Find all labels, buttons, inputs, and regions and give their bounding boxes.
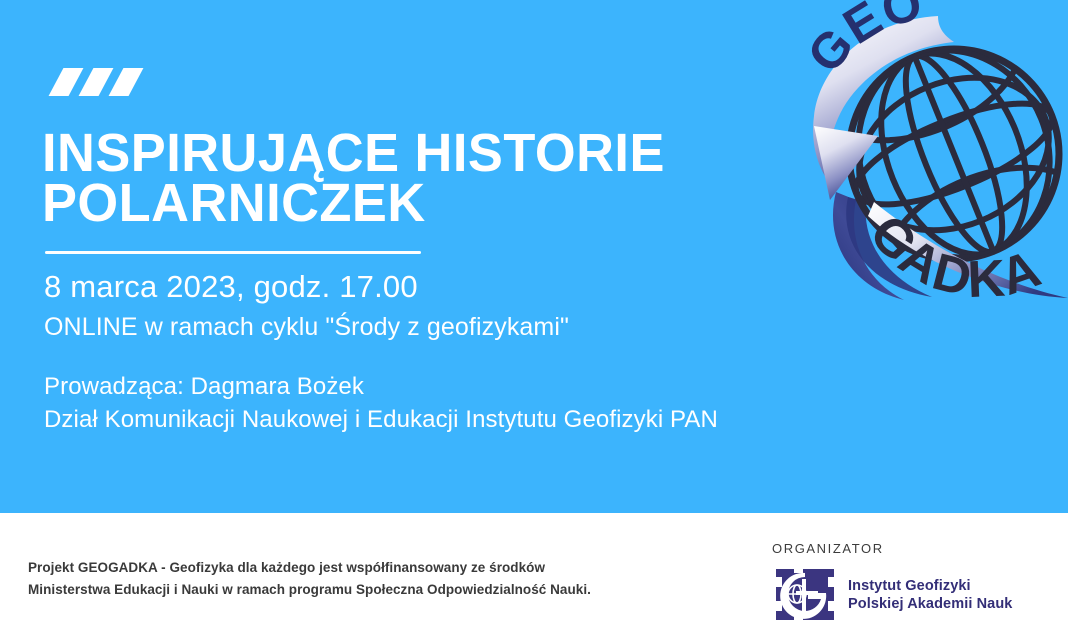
igf-pan-logo: Instytut Geofizyki Polskiej Akademii Nau…	[772, 567, 1052, 622]
funding-line-2: Ministerstwa Edukacji i Nauki w ramach p…	[28, 579, 728, 601]
poster-title: Inspirujące historie polarniczek	[42, 128, 779, 228]
event-format: ONLINE w ramach cyklu "Środy z geofizyka…	[44, 310, 884, 344]
igf-pan-name: Instytut Geofizyki Polskiej Akademii Nau…	[848, 577, 1012, 613]
event-host: Prowadząca: Dagmara Bożek	[44, 370, 884, 403]
igf-pan-name-line-1: Instytut Geofizyki	[848, 577, 1012, 595]
igf-pan-name-line-2: Polskiej Akademii Nauk	[848, 595, 1012, 613]
event-date: 8 marca 2023, godz. 17.00	[44, 268, 884, 306]
funding-line-1: Projekt GEOGADKA - Geofizyka dla każdego…	[28, 557, 728, 579]
poster-title-line-2: polarniczek	[42, 178, 779, 228]
footer-bar: Projekt GEOGADKA - Geofizyka dla każdego…	[0, 513, 1068, 630]
poster-title-line-1: Inspirujące historie	[42, 128, 779, 178]
title-divider	[45, 251, 421, 254]
event-host-block: Prowadząca: Dagmara Bożek Dział Komunika…	[44, 370, 884, 436]
organizer-label: ORGANIZATOR	[772, 541, 1052, 556]
slash-bar-2	[79, 68, 114, 96]
decorative-slashes-icon	[46, 68, 156, 98]
event-department: Dział Komunikacji Naukowej i Edukacji In…	[44, 403, 884, 436]
event-details: 8 marca 2023, godz. 17.00 ONLINE w ramac…	[44, 268, 884, 436]
slash-bar-1	[49, 68, 84, 96]
geogadka-logo: GEO GADKA	[786, 0, 1068, 324]
poster-canvas: Inspirujące historie polarniczek 8 marca…	[0, 0, 1068, 630]
igf-pan-mark-icon	[772, 567, 838, 622]
slash-bar-3	[109, 68, 144, 96]
organizer-block: ORGANIZATOR	[772, 541, 1052, 622]
funding-statement: Projekt GEOGADKA - Geofizyka dla każdego…	[28, 557, 728, 601]
